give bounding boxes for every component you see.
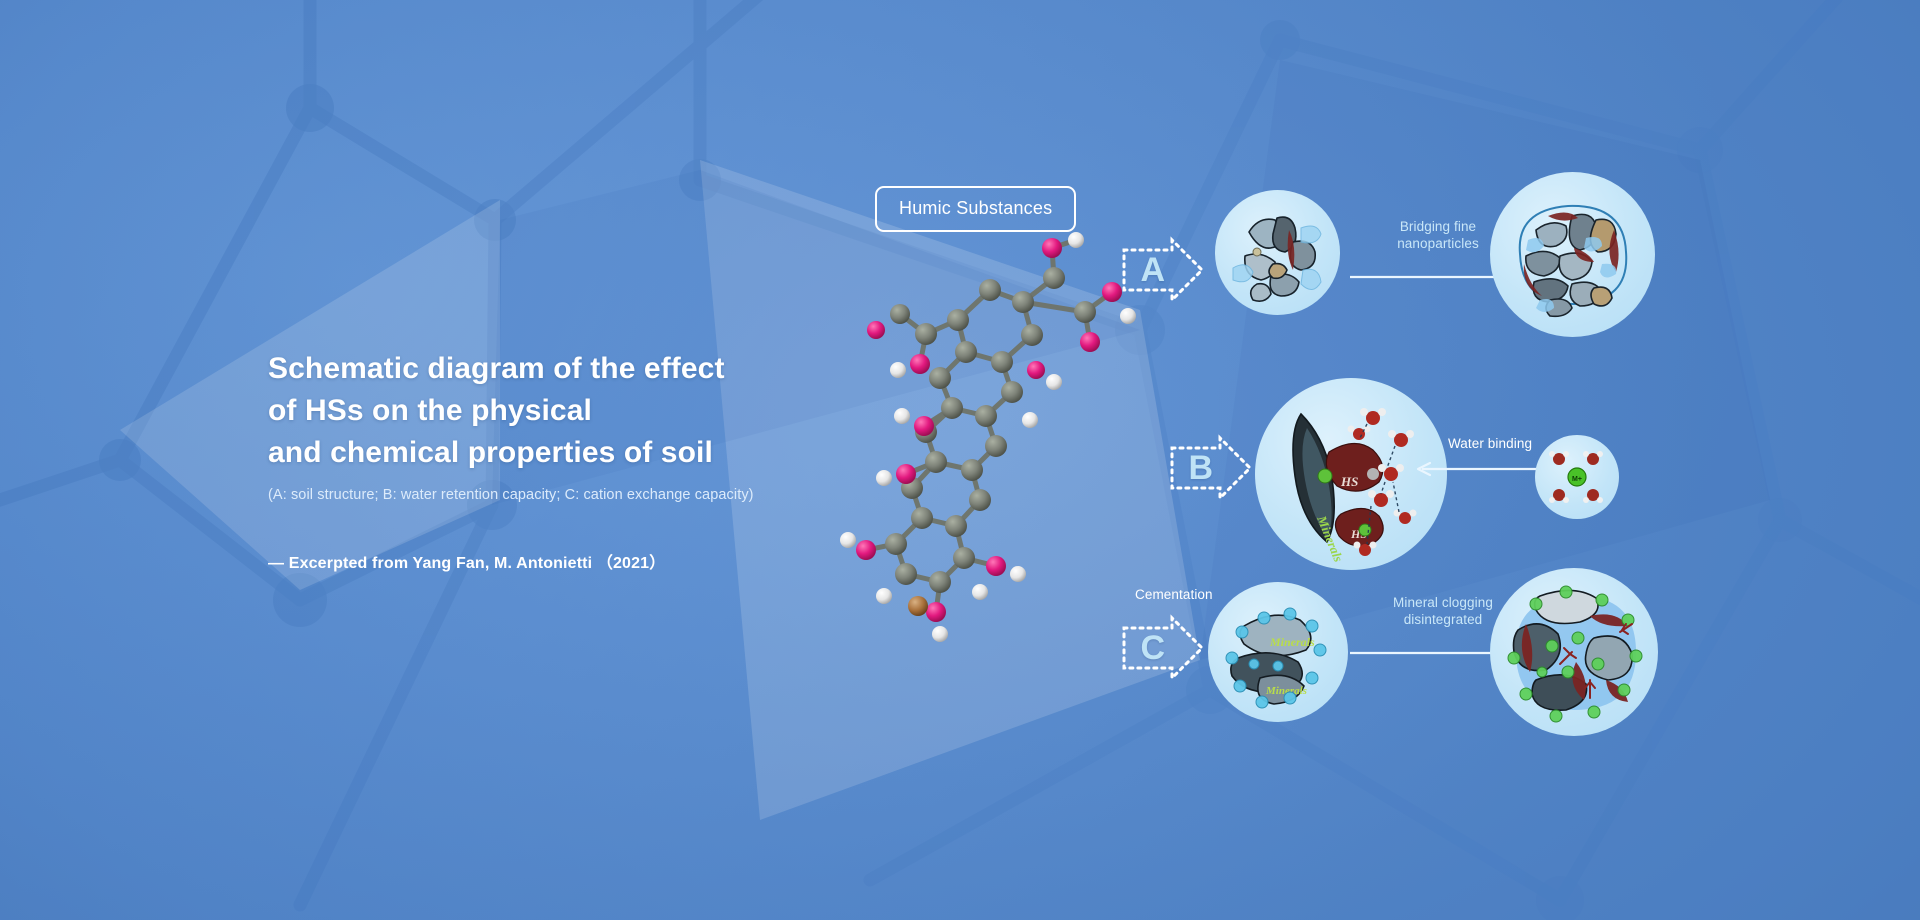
step-letter-c: C: [1120, 614, 1186, 682]
aggregated-soil-clump-art: [1490, 172, 1655, 337]
step-arrow-c[interactable]: C: [1120, 614, 1206, 682]
step-arrow-a[interactable]: A: [1120, 236, 1206, 304]
hydrated-cation-art: M+: [1535, 435, 1619, 519]
step-c-after-circle: [1490, 568, 1658, 736]
page-subtitle: (A: soil structure; B: water retention c…: [268, 485, 908, 505]
left-text-block: Schematic diagram of the effect of HSs o…: [268, 348, 908, 573]
inner-label-minerals-c1: Minerals: [1269, 635, 1315, 649]
step-c-before-circle: Minerals Minerals: [1208, 582, 1348, 722]
step-b-transition-arrow-left: [1412, 462, 1544, 476]
step-letter-a: A: [1120, 236, 1186, 304]
page-title: Schematic diagram of the effect of HSs o…: [268, 348, 908, 474]
disintegrated-minerals-cation-exchange-art: [1490, 568, 1658, 736]
cemented-minerals-art: Minerals Minerals: [1208, 582, 1348, 722]
step-a-after-circle: [1490, 172, 1655, 337]
step-arrow-b[interactable]: B: [1168, 434, 1254, 502]
loose-mineral-fragments-art: [1215, 190, 1340, 315]
humic-substances-legend-pill[interactable]: Humic Substances: [875, 186, 1076, 232]
step-letter-b: B: [1168, 434, 1234, 502]
cation-label: M+: [1572, 476, 1582, 483]
step-b-after-circle: M+: [1535, 435, 1619, 519]
attribution-line: — Excerpted from Yang Fan, M. Antonietti…: [268, 549, 908, 573]
inner-label-hs-b1: HS: [1340, 474, 1358, 489]
step-a-before-circle: [1215, 190, 1340, 315]
